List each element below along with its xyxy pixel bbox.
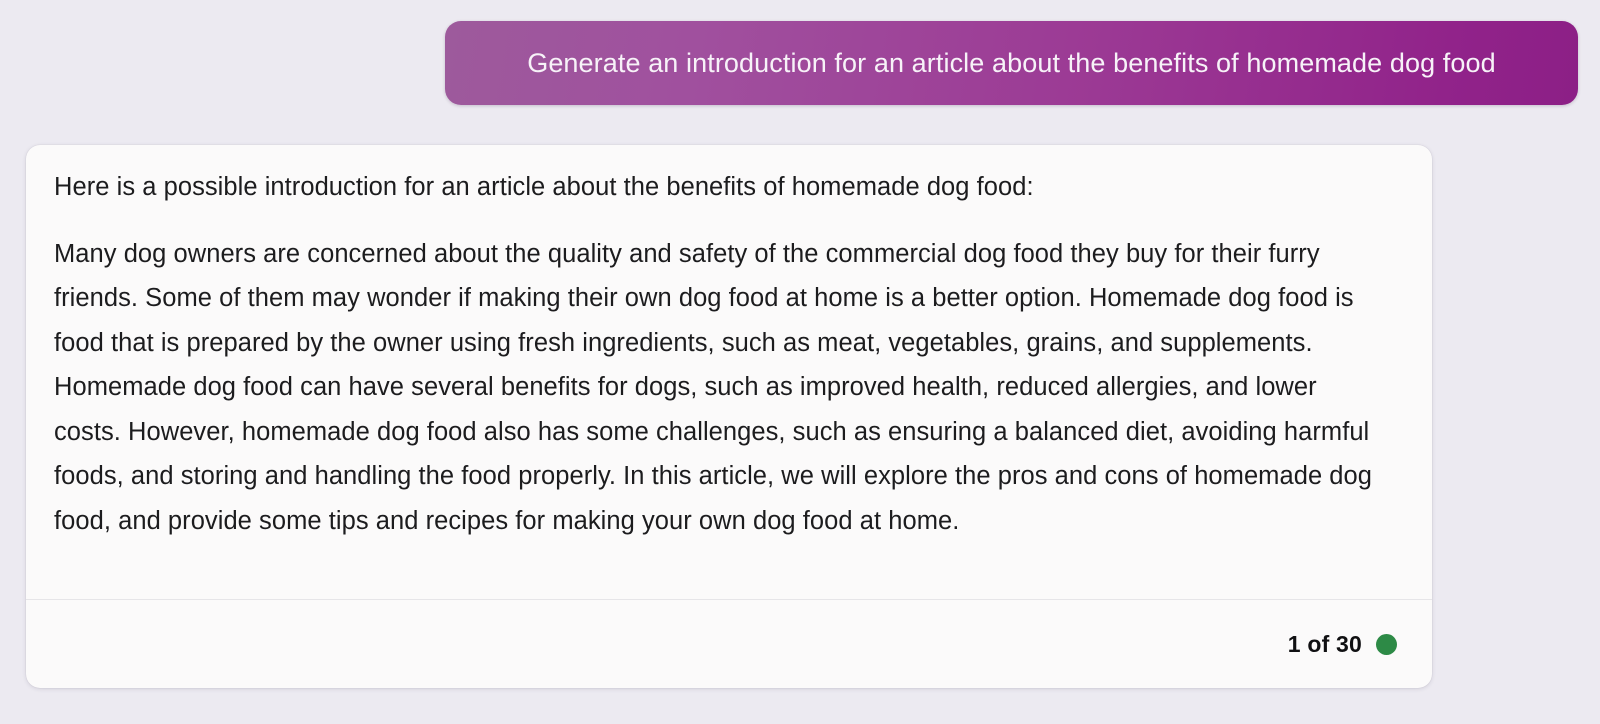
green-status-dot-icon: [1376, 634, 1397, 655]
user-prompt-text: Generate an introduction for an article …: [527, 47, 1496, 79]
user-prompt-bubble[interactable]: Generate an introduction for an article …: [445, 21, 1578, 105]
assistant-response-card: Here is a possible introduction for an a…: [26, 145, 1432, 688]
response-main-paragraph: Many dog owners are concerned about the …: [54, 232, 1384, 544]
response-body: Here is a possible introduction for an a…: [26, 145, 1432, 599]
response-footer: 1 of 30: [26, 600, 1432, 688]
response-counter: 1 of 30: [1288, 631, 1362, 658]
user-prompt-row: Generate an introduction for an article …: [445, 21, 1578, 105]
response-intro-paragraph: Here is a possible introduction for an a…: [54, 165, 1402, 210]
